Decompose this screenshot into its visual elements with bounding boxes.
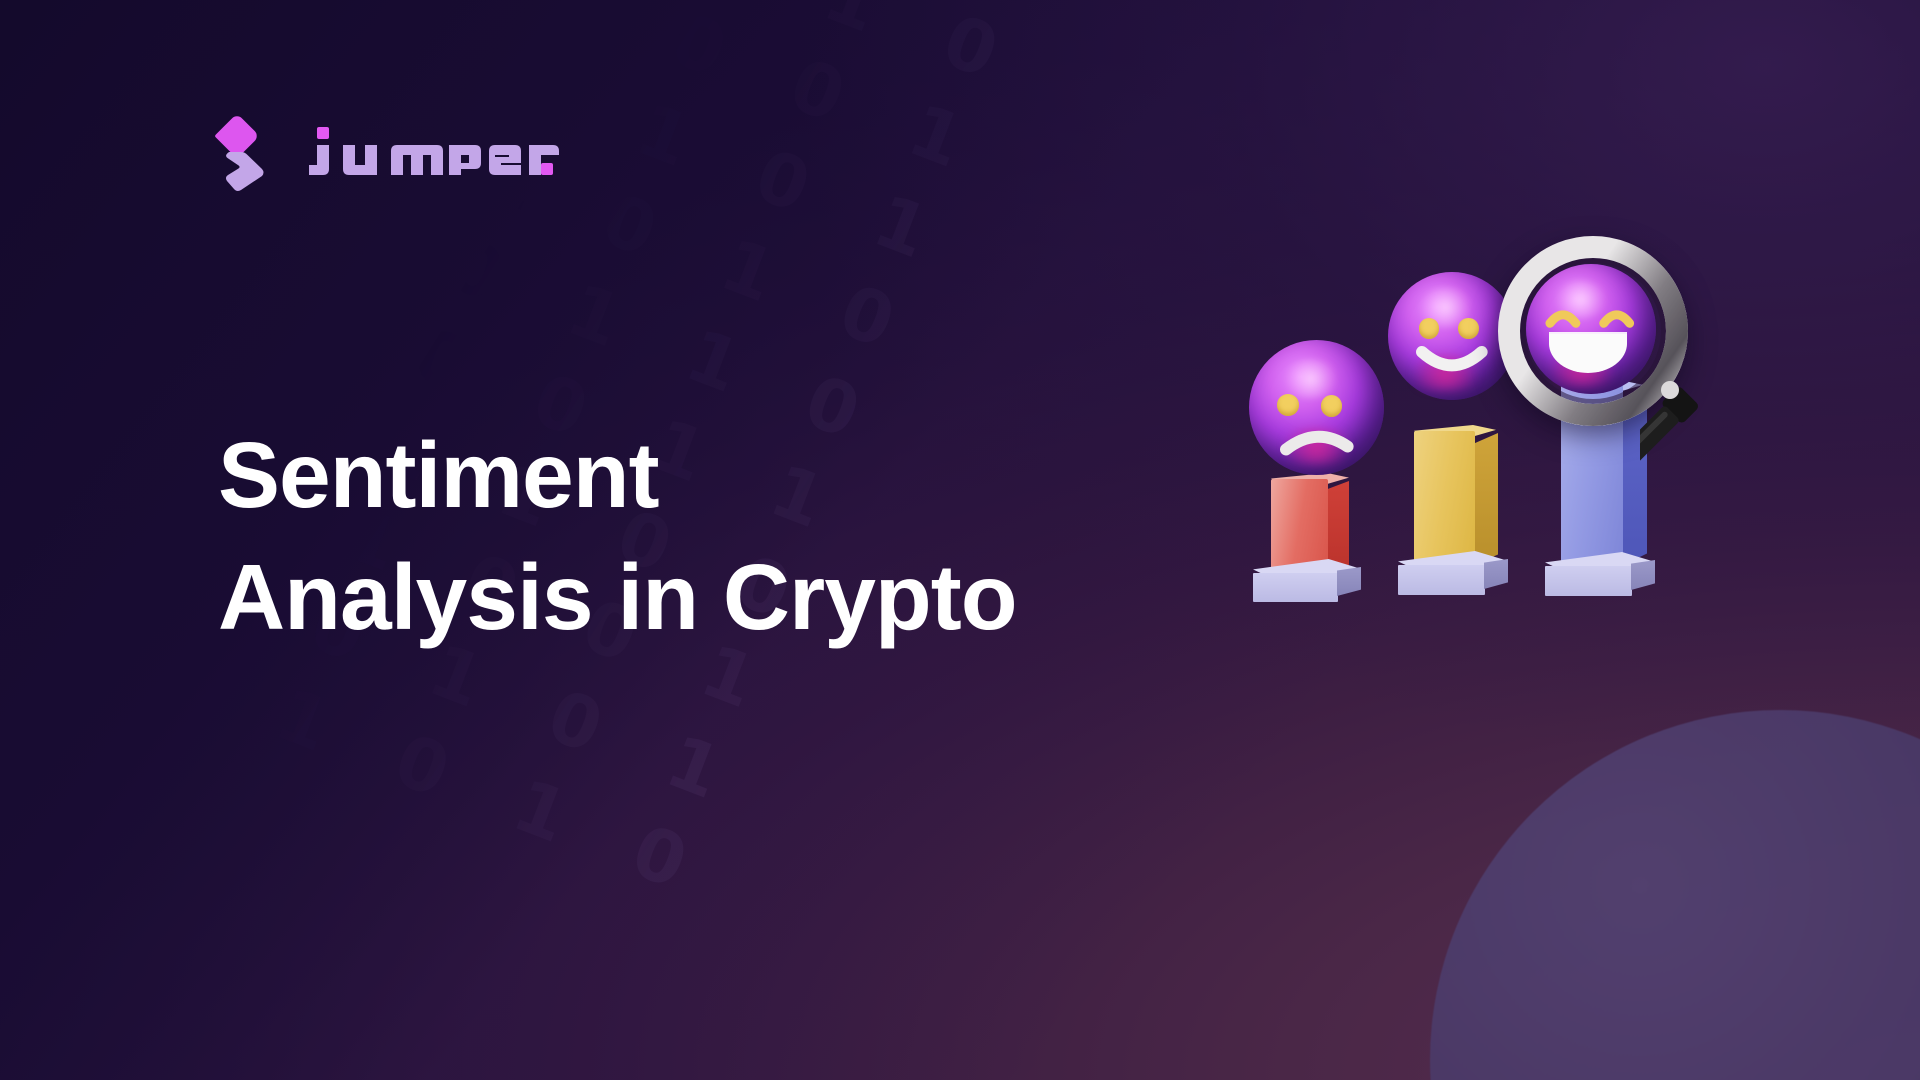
bar-negative-front (1271, 479, 1328, 573)
sad-emoji-frown-mouth (1279, 424, 1355, 459)
pedestal-negative-front (1253, 573, 1338, 602)
jumper-logo-mark (213, 118, 269, 190)
happy-emoji-eye-left (1419, 318, 1439, 338)
page-title: Sentiment Analysis in Crypto (218, 414, 1017, 658)
jumper-logo[interactable] (213, 118, 559, 190)
pedestal-positive-front (1545, 566, 1632, 596)
title-line-2: Analysis in Crypto (218, 536, 1017, 658)
happy-emoji-eye-right (1458, 318, 1478, 338)
pedestal-positive-side (1631, 560, 1655, 590)
pedestal-neutral-front (1398, 565, 1485, 595)
sad-emoji-eye-right (1321, 395, 1343, 417)
title-line-1: Sentiment (218, 414, 1017, 536)
sad-emoji-eye-left (1277, 394, 1299, 416)
sad-emoji (1249, 340, 1384, 475)
magnifying-glass (1490, 230, 1780, 500)
pedestal-neutral-side (1484, 559, 1508, 589)
banner-canvas: 1 0 0 1 0 1 1 0 0 1 0 0 1 1 0 1 0 0 1 1 … (0, 0, 1920, 1080)
happy-emoji-smile-mouth (1416, 344, 1488, 380)
jumper-wordmark (309, 125, 559, 183)
pedestal-negative-side (1337, 567, 1361, 596)
bar-neutral-front (1414, 431, 1475, 565)
chevron-arrow-icon (217, 148, 267, 192)
magnifier-handle (1640, 380, 1790, 520)
bar-negative-side (1327, 481, 1349, 573)
sentiment-analysis-illustration (1225, 230, 1865, 750)
